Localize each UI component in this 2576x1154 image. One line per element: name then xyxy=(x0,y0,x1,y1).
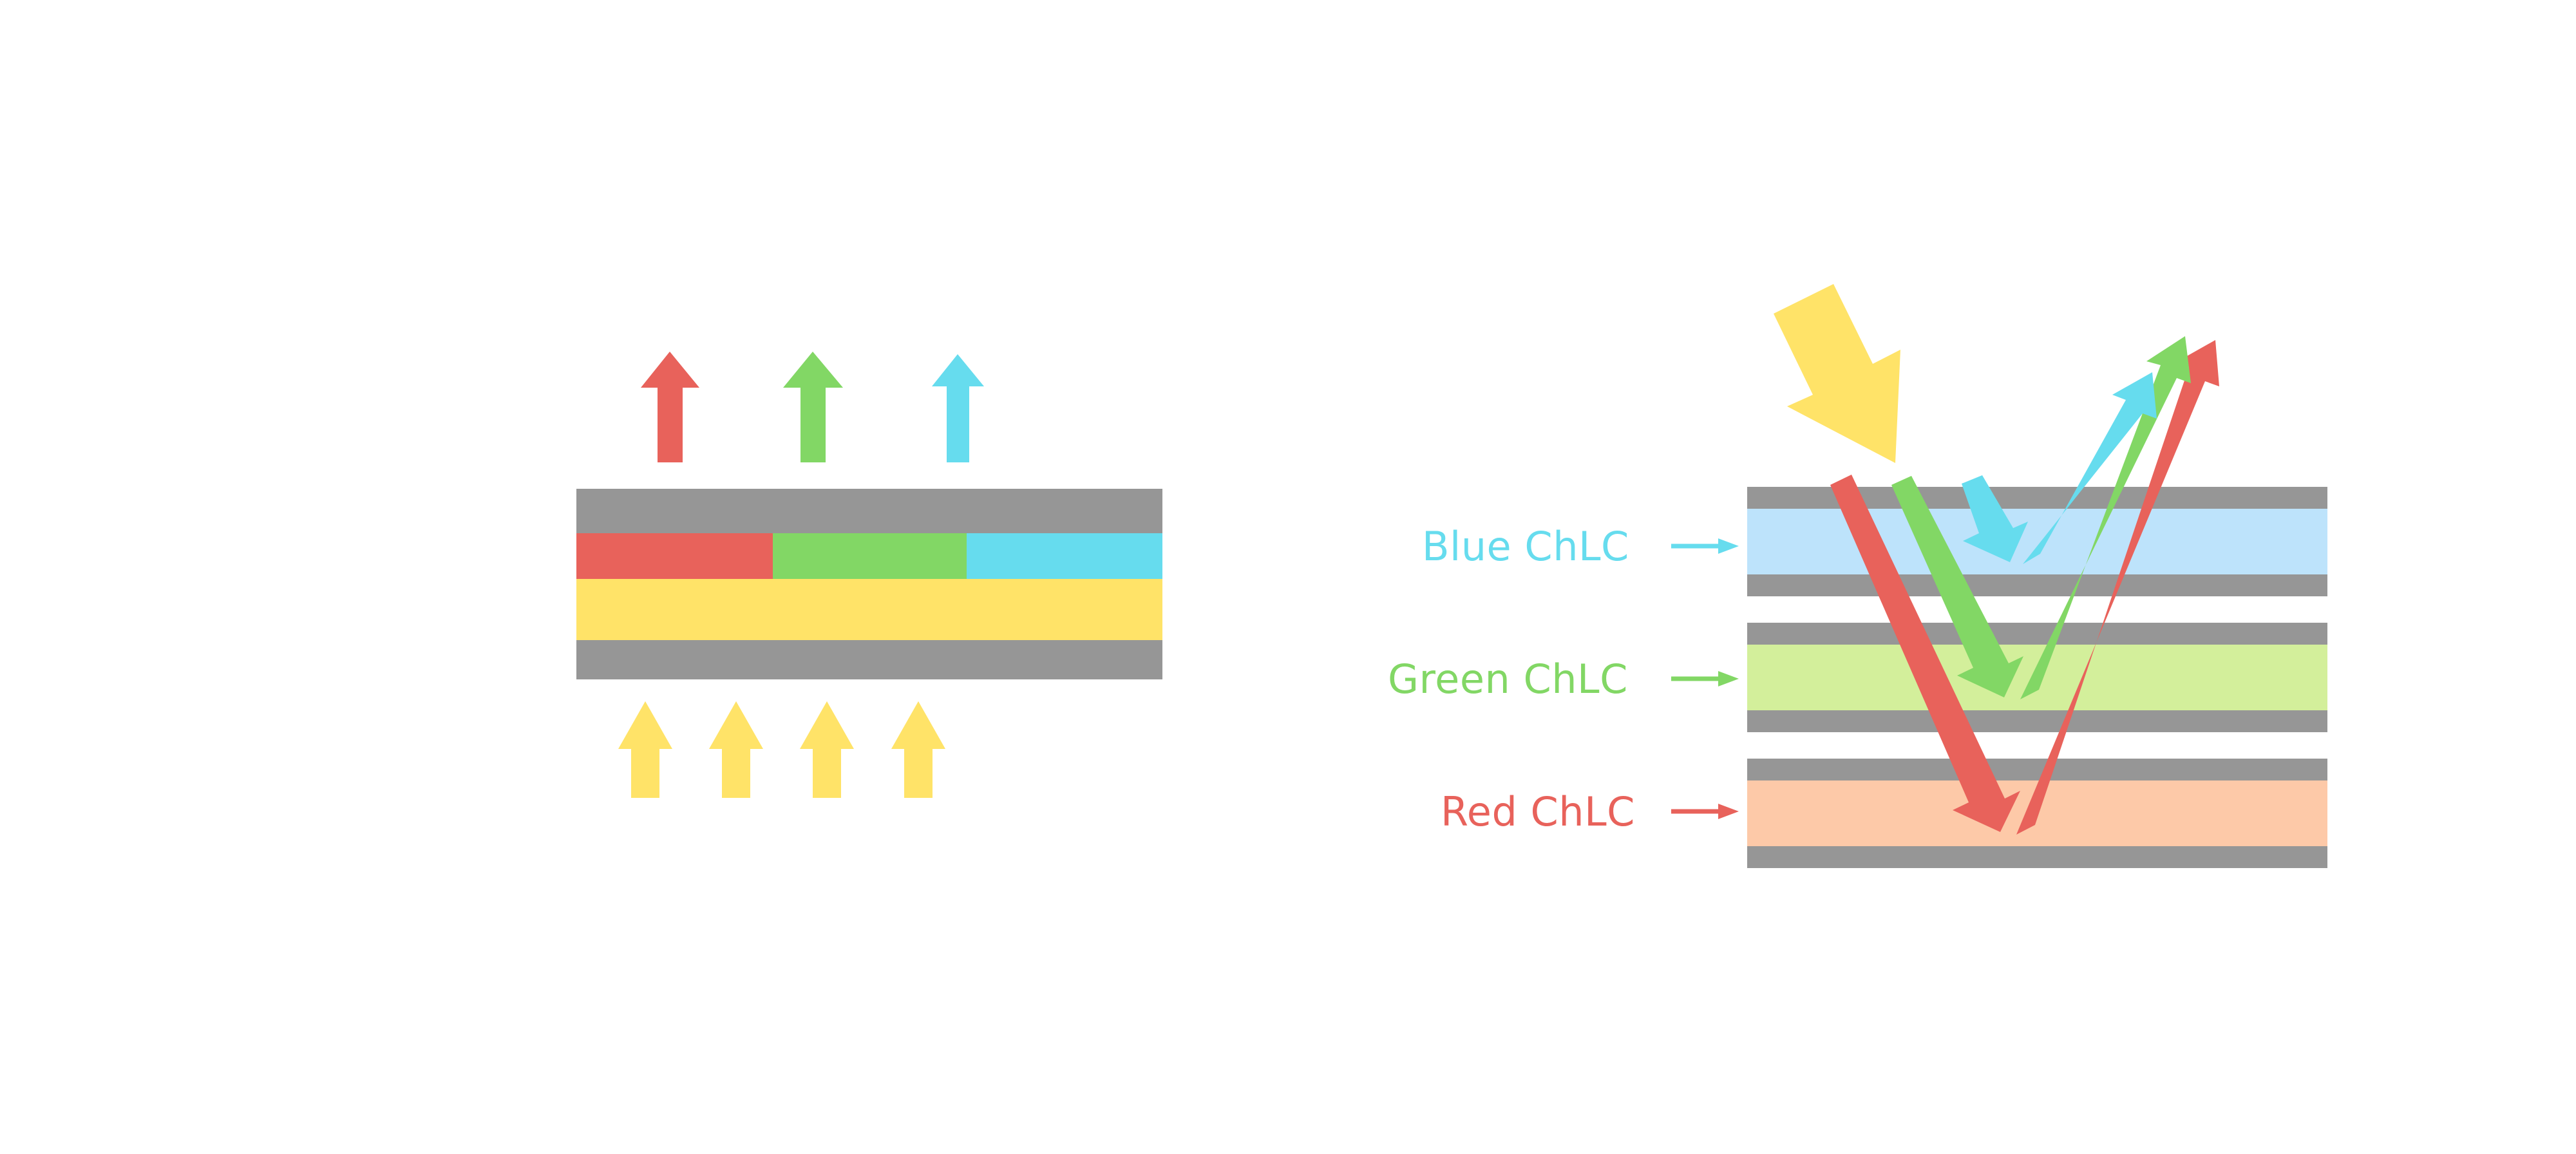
red-segment xyxy=(576,533,773,579)
green-cell-bottom-electrode xyxy=(1747,710,2327,732)
panel-transmissive-rgb-stack xyxy=(576,352,1162,798)
red-emitted-arrow xyxy=(641,352,699,462)
green-emitted-arrow xyxy=(783,352,843,462)
blue-emitted-arrow xyxy=(932,354,984,462)
green-segment xyxy=(773,533,967,579)
green-chlc-label-arrow xyxy=(1671,671,1739,686)
red-cell-top-electrode xyxy=(1747,759,2327,780)
red-chlc-label: Red ChLC xyxy=(1441,788,1635,835)
green-cell-top-electrode xyxy=(1747,623,2327,645)
blue-chlc-label: Blue ChLC xyxy=(1422,523,1629,570)
backlight-arrow xyxy=(800,701,854,798)
bottom-electrode-layer xyxy=(576,640,1162,679)
emitted-arrows-group xyxy=(641,352,984,462)
blue-segment xyxy=(967,533,1162,579)
blue-chlc-layer xyxy=(1747,509,2327,574)
blue-chlc-cell xyxy=(1747,487,2327,596)
panel-reflective-chlc-stack: Blue ChLC Green ChLC Red ChLC xyxy=(1388,284,2327,868)
red-chlc-label-arrow xyxy=(1671,804,1739,819)
blue-chlc-label-arrow xyxy=(1671,538,1739,554)
red-cell-bottom-electrode xyxy=(1747,846,2327,868)
backlight-arrow xyxy=(709,701,763,798)
white-light-incident-arrow xyxy=(1774,284,1900,463)
backlight-layer xyxy=(576,579,1162,640)
backlight-arrows-group xyxy=(618,701,945,798)
top-electrode-layer xyxy=(576,489,1162,533)
chlc-diagram: Blue ChLC Green ChLC Red ChLC xyxy=(0,0,2576,1154)
backlight-arrow xyxy=(618,701,672,798)
green-chlc-label: Green ChLC xyxy=(1388,656,1628,703)
cell-labels-group: Blue ChLC Green ChLC Red ChLC xyxy=(1388,523,1739,835)
backlight-arrow xyxy=(891,701,945,798)
transmissive-stack xyxy=(576,489,1162,679)
blue-cell-bottom-electrode xyxy=(1747,574,2327,596)
diagram-canvas: Blue ChLC Green ChLC Red ChLC xyxy=(0,0,2576,1154)
